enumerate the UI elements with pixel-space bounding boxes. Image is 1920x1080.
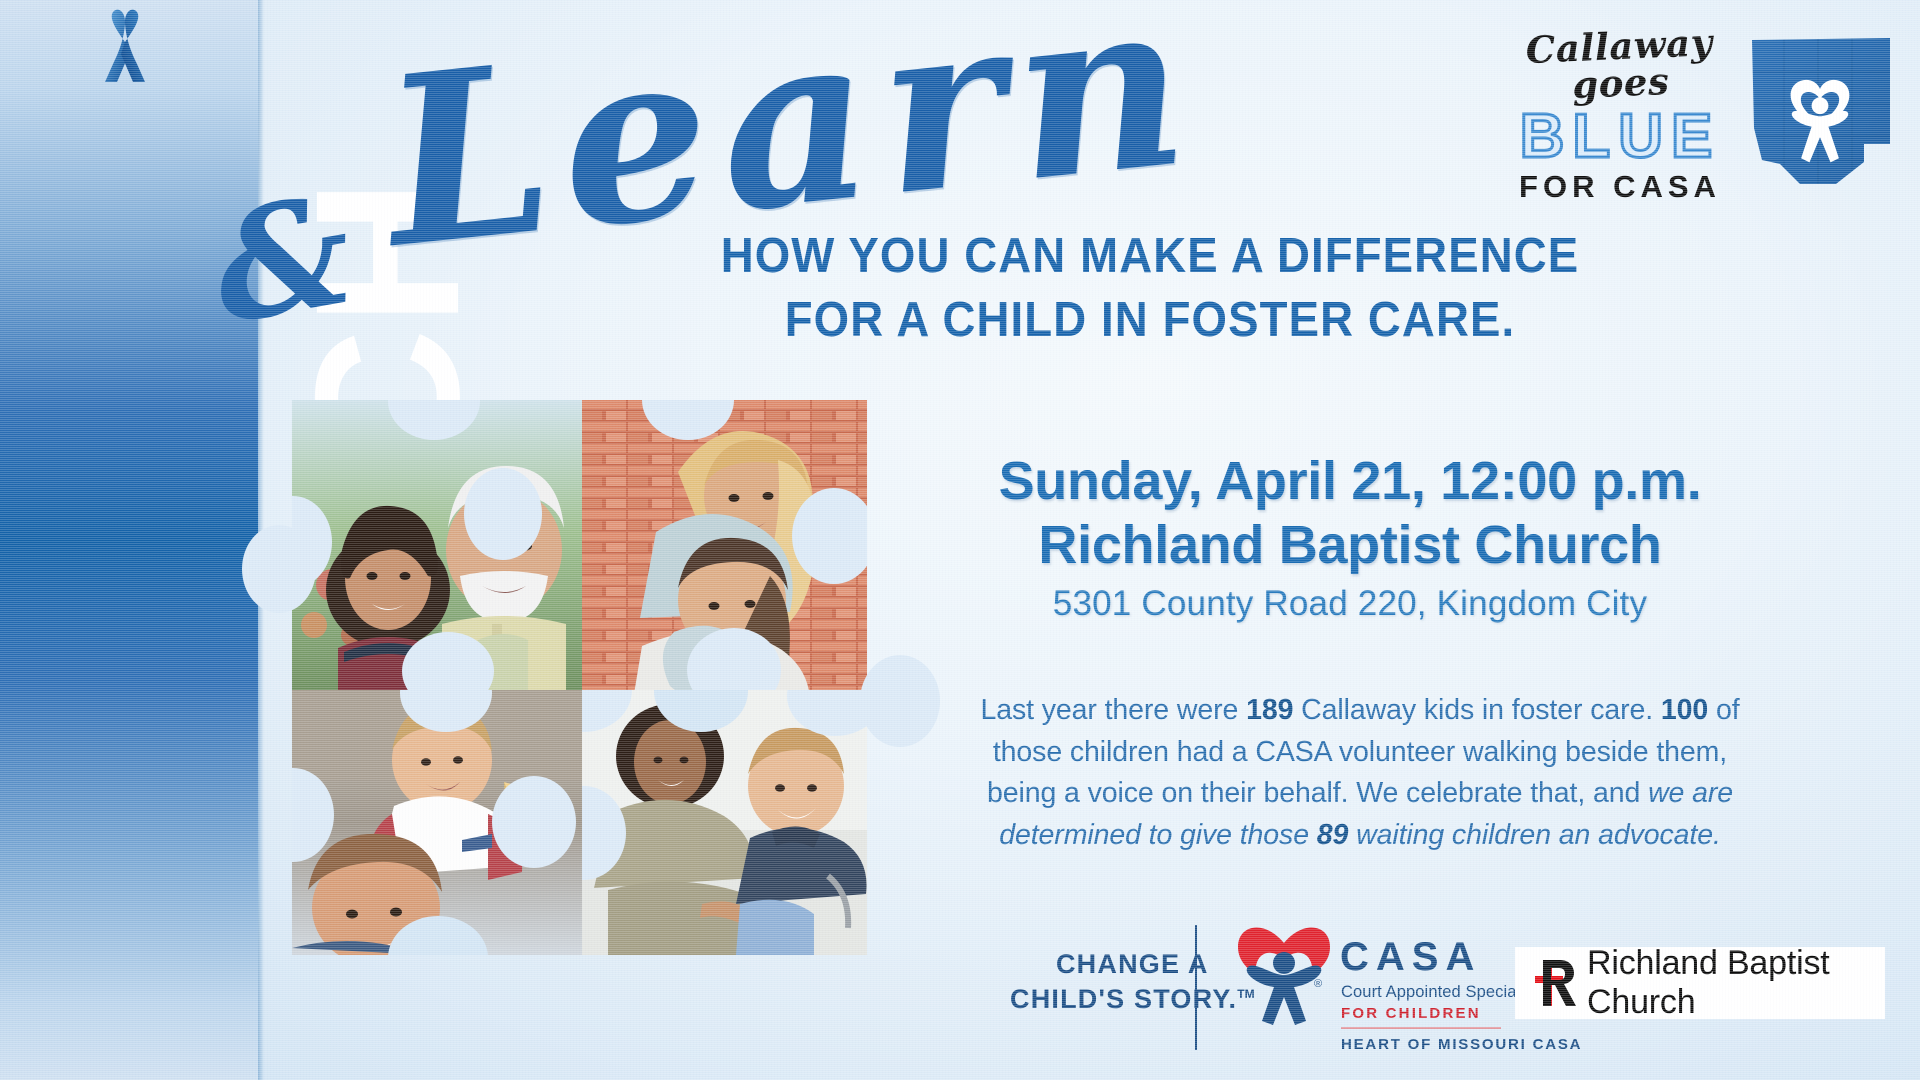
stat-with-casa-count: 100 (1661, 694, 1708, 726)
blue-awareness-ribbon-icon (95, 8, 155, 86)
tagline-line-2: CHILD'S STORY. (1010, 984, 1237, 1014)
stat-waiting-count: 89 (1317, 819, 1349, 851)
copy-seg-1: Last year there were (980, 694, 1246, 726)
copy-italic-2: waiting children an advocate. (1348, 819, 1720, 851)
tagline-line-1: CHANGE A (1010, 947, 1255, 982)
photo-teen-and-grandfather (292, 400, 582, 690)
callaway-goes-blue-logo: Callaway goes BLUE FOR CASA (1500, 14, 1900, 204)
campaign-script-line: Callaway goes (1499, 23, 1742, 107)
script-ampersand: & (203, 174, 362, 345)
page-headline: HOW YOU CAN MAKE A DIFFERENCE FOR A CHIL… (657, 225, 1643, 352)
casa-logo: ® CASA Court Appointed Special Advocates… (1228, 913, 1503, 1063)
campaign-blue-word: BLUE (1500, 106, 1740, 168)
copy-seg-2: Callaway kids in foster care. (1293, 694, 1661, 726)
event-address: 5301 County Road 220, Kingdom City (900, 584, 1800, 624)
event-venue: Richland Baptist Church (900, 514, 1800, 578)
puzzle-photo-collage (232, 345, 872, 1065)
tagline-line-2-wrap: CHILD'S STORY.TM (1010, 982, 1255, 1017)
casa-for-children: FOR CHILDREN (1341, 1005, 1481, 1022)
campaign-wordmark: Callaway goes BLUE FOR CASA (1500, 28, 1740, 204)
event-details: Sunday, April 21, 12:00 p.m. Richland Ba… (900, 450, 1800, 624)
svg-text:®: ® (1314, 978, 1322, 990)
campaign-for-casa: FOR CASA (1500, 170, 1740, 204)
richland-baptist-church-logo: Richland Baptist Church (1515, 947, 1885, 1019)
statistics-paragraph: Last year there were 189 Callaway kids i… (960, 690, 1760, 856)
casa-chapter-name: HEART OF MISSOURI CASA (1341, 1036, 1582, 1053)
footer-logo-row: CHANGE A CHILD'S STORY.TM ® CASA Court A… (960, 905, 1900, 1080)
headline-line-2: FOR A CHILD IN FOSTER CARE. (657, 289, 1643, 353)
change-a-childs-story-tagline: CHANGE A CHILD'S STORY.TM (1010, 947, 1255, 1016)
footer-divider (1195, 925, 1197, 1050)
casa-heart-person-icon: ® (1228, 913, 1340, 1025)
casa-wordmark: CASA (1340, 937, 1481, 977)
callaway-county-map-icon (1740, 32, 1900, 192)
photo-volunteer-and-boy-wheelchair (582, 690, 867, 955)
casa-rule (1341, 1027, 1501, 1029)
photo-father-and-child-paper-plane (292, 690, 582, 955)
poster-canvas: LUNCH & Learn HOW YOU CAN MAKE A DIFFERE… (0, 0, 1920, 1080)
stat-foster-count: 189 (1246, 694, 1293, 726)
church-name-label: Richland Baptist Church (1587, 944, 1885, 1022)
photo-mother-hugging-daughter (582, 400, 867, 690)
cross-r-monogram-icon (1523, 952, 1585, 1014)
headline-line-1: HOW YOU CAN MAKE A DIFFERENCE (657, 225, 1643, 289)
event-date-time: Sunday, April 21, 12:00 p.m. (900, 450, 1800, 514)
